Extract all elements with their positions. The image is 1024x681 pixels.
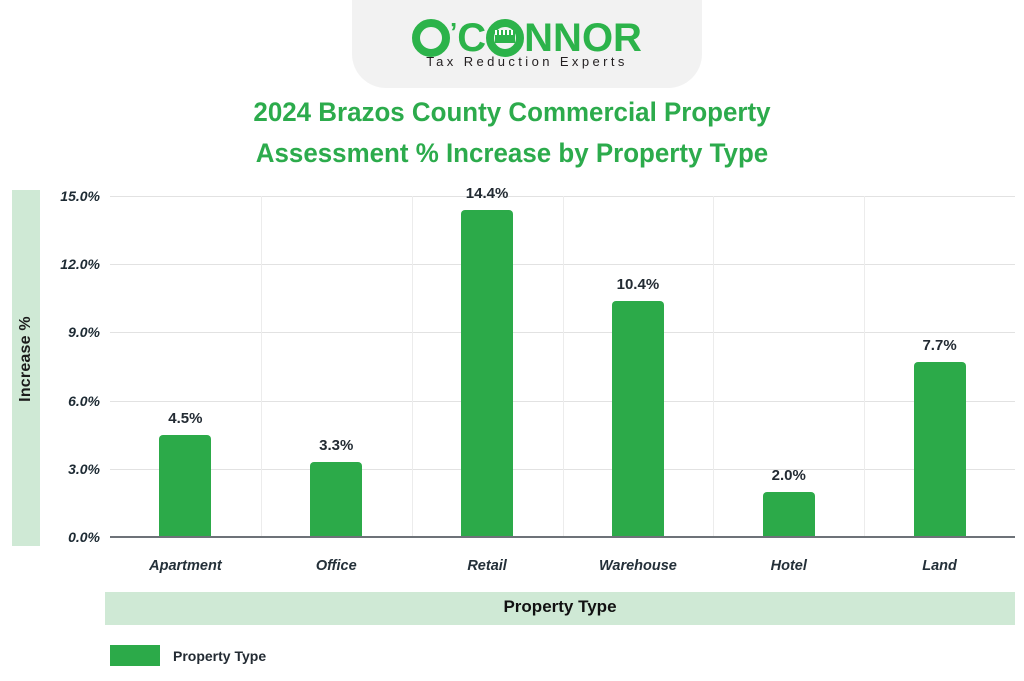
bar-value-label: 10.4% (583, 276, 693, 293)
plot-area (110, 196, 1015, 537)
y-axis-tick-label: 9.0% (22, 324, 100, 340)
x-axis-category-label: Retail (417, 558, 557, 574)
bar-apartment[interactable] (159, 435, 211, 537)
x-axis-category-label: Hotel (719, 558, 859, 574)
bar-value-label: 14.4% (432, 185, 542, 202)
x-axis-category-label: Apartment (115, 558, 255, 574)
bar-warehouse[interactable] (612, 301, 664, 537)
logo-courthouse-icon (486, 19, 524, 57)
x-axis-category-label: Warehouse (568, 558, 708, 574)
bar-office[interactable] (310, 462, 362, 537)
y-axis-tick-label: 12.0% (22, 256, 100, 272)
y-axis-tick-label: 0.0% (22, 529, 100, 545)
vertical-gridline (412, 196, 413, 537)
x-axis-title: Property Type (105, 597, 1015, 617)
chart-title: 2024 Brazos County Commercial Property A… (20, 92, 1003, 174)
vertical-gridline (864, 196, 865, 537)
bar-value-label: 2.0% (734, 467, 844, 484)
bar-retail[interactable] (461, 210, 513, 537)
chart-title-line-2: Assessment % Increase by Property Type (20, 133, 1003, 174)
bar-value-label: 4.5% (130, 410, 240, 427)
bar-value-label: 7.7% (885, 337, 995, 354)
legend-label-property-type: Property Type (173, 648, 266, 664)
x-axis-category-label: Land (870, 558, 1010, 574)
chart-title-line-1: 2024 Brazos County Commercial Property (20, 92, 1003, 133)
x-axis-category-label: Office (266, 558, 406, 574)
legend-swatch-property-type (110, 645, 160, 666)
logo-tagline: Tax Reduction Experts (352, 54, 702, 69)
bar-value-label: 3.3% (281, 437, 391, 454)
bar-hotel[interactable] (763, 492, 815, 537)
y-axis-tick-label: 6.0% (22, 393, 100, 409)
oconnor-logo: ’C NNOR (352, 10, 702, 60)
vertical-gridline (713, 196, 714, 537)
chart-legend: Property Type (110, 645, 266, 666)
vertical-gridline (261, 196, 262, 537)
y-axis-tick-labels: 0.0%3.0%6.0%9.0%12.0%15.0% (22, 196, 100, 537)
bar-land[interactable] (914, 362, 966, 537)
y-axis-tick-label: 15.0% (22, 188, 100, 204)
x-axis-line (110, 536, 1015, 538)
logo-o-ring-icon (412, 19, 450, 57)
y-axis-tick-label: 3.0% (22, 461, 100, 477)
vertical-gridline (563, 196, 564, 537)
